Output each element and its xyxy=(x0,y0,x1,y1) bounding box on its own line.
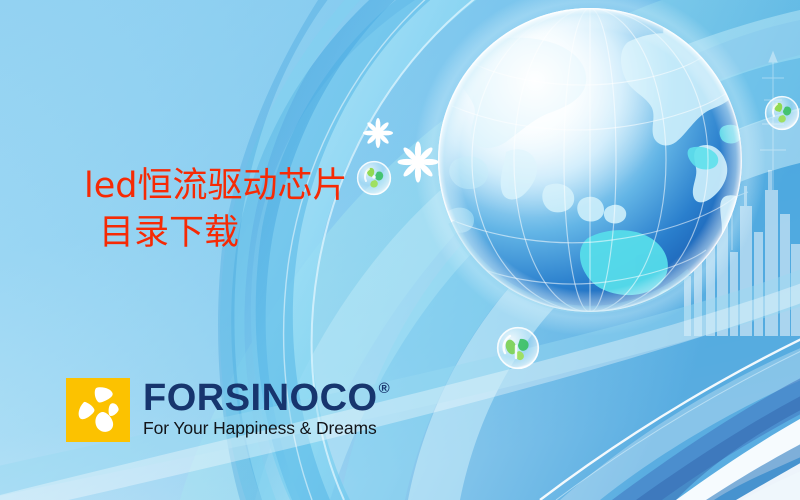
promo-banner: led恒流驱动芯片 目录下载 FORSINOCO ® For Your Happ… xyxy=(0,0,800,500)
company-logo: FORSINOCO ® For Your Happiness & Dreams xyxy=(66,378,390,442)
bubble-pinwheel-topright xyxy=(765,96,799,130)
logo-text-block: FORSINOCO ® For Your Happiness & Dreams xyxy=(143,378,390,438)
logo-pinwheel-icon xyxy=(66,378,130,442)
logo-brand-name: FORSINOCO xyxy=(143,380,378,416)
bubble-pinwheel-lower xyxy=(497,327,539,369)
logo-brand-row: FORSINOCO ® xyxy=(143,380,390,416)
registered-trademark-icon: ® xyxy=(379,381,391,396)
logo-tagline: For Your Happiness & Dreams xyxy=(143,419,390,438)
bubble-pinwheel-left xyxy=(357,161,391,195)
